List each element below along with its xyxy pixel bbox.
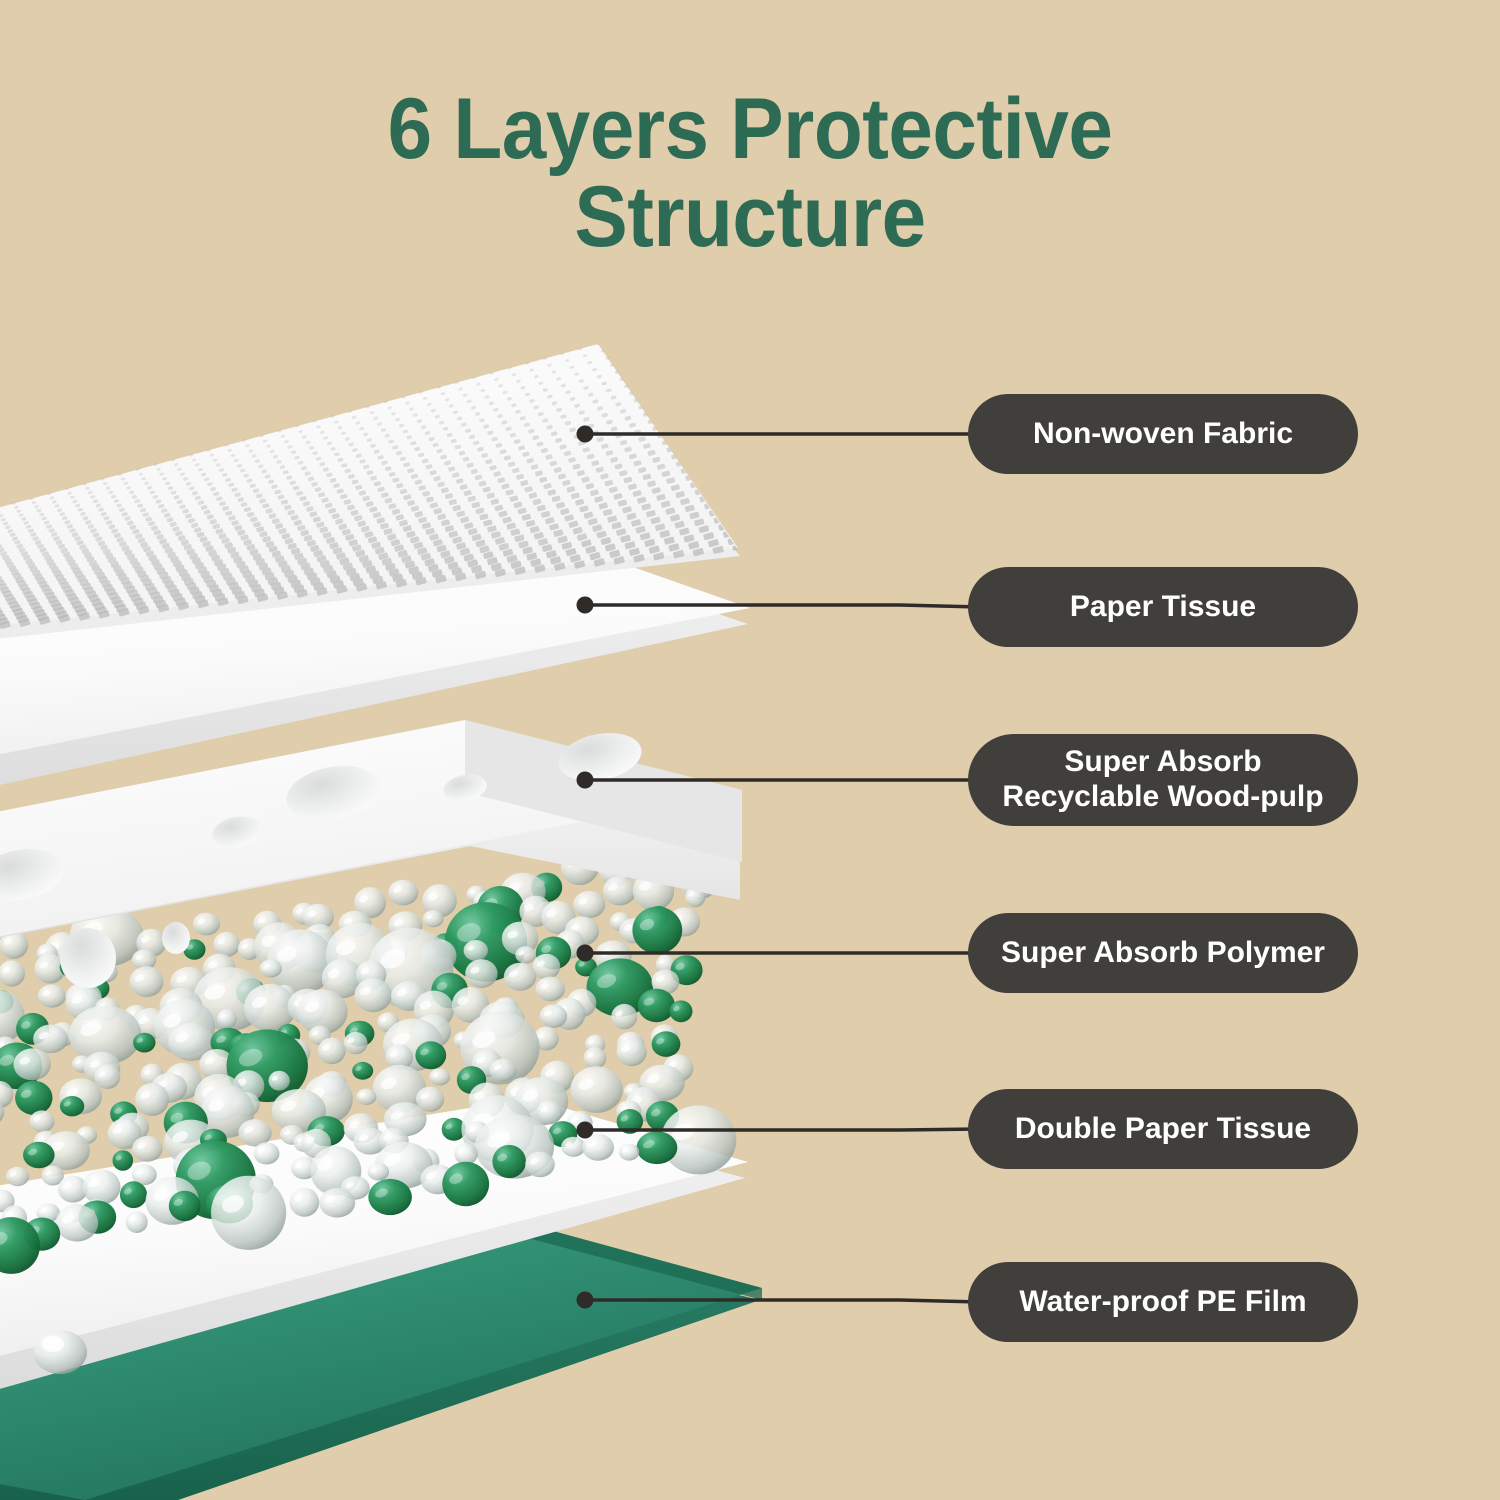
layer-label-super-absorb-polymer[interactable]: Super Absorb Polymer: [968, 913, 1358, 993]
layer-label-super-absorb-recyclable-wood-pulp[interactable]: Super Absorb Recyclable Wood-pulp: [968, 734, 1358, 826]
layer-label-double-paper-tissue[interactable]: Double Paper Tissue: [968, 1089, 1358, 1169]
layer-label-non-woven-fabric[interactable]: Non-woven Fabric: [968, 394, 1358, 474]
layer-label-water-proof-pe-film[interactable]: Water-proof PE Film: [968, 1262, 1358, 1342]
layer-label-text: Water-proof PE Film: [1019, 1285, 1306, 1320]
layer-label-text: Super Absorb Recyclable Wood-pulp: [1002, 745, 1323, 815]
layer-label-text: Paper Tissue: [1070, 590, 1256, 625]
layer-label-text: Non-woven Fabric: [1033, 417, 1293, 452]
layer-label-text: Super Absorb Polymer: [1001, 936, 1325, 971]
infographic-canvas: 6 Layers Protective Structure: [0, 0, 1500, 1500]
layer-label-text: Double Paper Tissue: [1015, 1112, 1311, 1147]
layer-label-paper-tissue[interactable]: Paper Tissue: [968, 567, 1358, 647]
